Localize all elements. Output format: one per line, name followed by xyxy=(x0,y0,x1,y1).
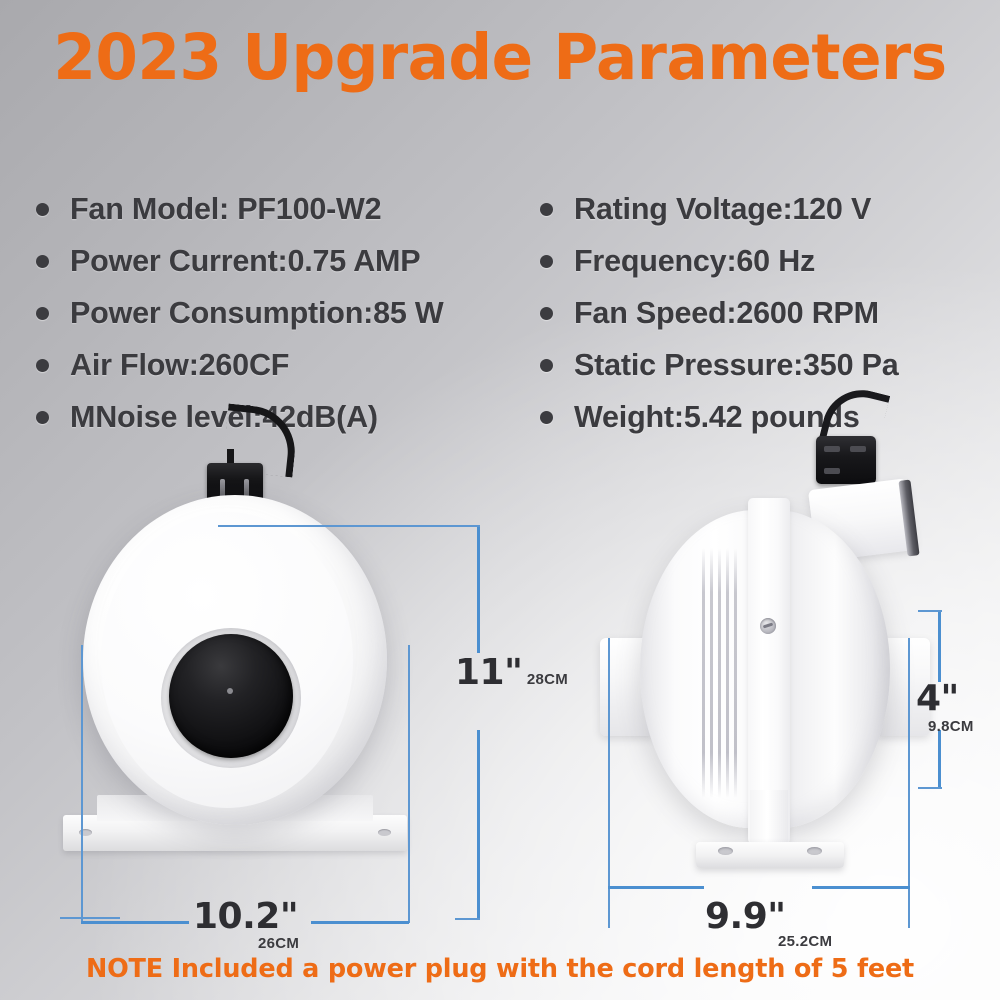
dimension-inches: 11" xyxy=(455,652,522,693)
bullet-icon xyxy=(540,411,553,424)
dimension-tick-duct-top xyxy=(918,610,942,612)
spec-item-static-pressure: Static Pressure:350 Pa xyxy=(540,339,899,391)
mounting-foot-plate xyxy=(696,842,844,868)
dimension-label-width-right-cm: 25.2CM xyxy=(778,933,832,951)
fan-front-view-illustration xyxy=(75,495,395,895)
dimension-tick-top-left xyxy=(455,525,480,527)
dimension-label-height-left: 11" 28CM xyxy=(455,652,568,693)
spec-label: Rating Voltage:120 V xyxy=(574,192,871,227)
spec-item-power-consumption: Power Consumption:85 W xyxy=(36,287,443,339)
bullet-icon xyxy=(540,203,553,216)
bullet-icon xyxy=(36,203,49,216)
dimension-line-width-right-segment xyxy=(311,921,409,924)
dimension-inches: 4" xyxy=(916,678,959,719)
connector-slot-icon xyxy=(824,468,840,474)
dimension-extension-right-edge-right-product xyxy=(908,638,910,928)
dimension-label-width-right: 9.9" xyxy=(705,896,786,937)
fan-side-view-illustration xyxy=(600,490,930,900)
spec-item-fan-model: Fan Model: PF100-W2 xyxy=(36,183,443,235)
dimension-extension-left-edge xyxy=(81,645,83,923)
dimension-extension-top-left xyxy=(218,525,480,527)
housing-rib xyxy=(710,548,713,798)
connector-slot-icon xyxy=(850,446,866,452)
product-spec-infographic: 2023 Upgrade Parameters Fan Model: PF100… xyxy=(0,0,1000,1000)
dimension-tick-bottom-left xyxy=(455,918,480,920)
fan-motor-hub xyxy=(169,634,293,758)
connector-slot-icon xyxy=(824,446,840,452)
spec-label: Frequency:60 Hz xyxy=(574,244,815,279)
bullet-icon xyxy=(36,255,49,268)
foot-screw-hole-icon xyxy=(807,847,822,855)
housing-rib xyxy=(718,548,721,798)
dimension-inches: 10.2" xyxy=(193,896,298,937)
product-dimension-diagrams: 11" 28CM 10.2" 26CM xyxy=(0,430,1000,950)
dimension-label-width-left-cm: 26CM xyxy=(258,935,299,953)
dimension-line-width-right-left-segment xyxy=(608,886,704,889)
dimension-cm: 9.8CM xyxy=(928,718,974,735)
spec-label: Static Pressure:350 Pa xyxy=(574,348,899,383)
spec-item-rating-voltage: Rating Voltage:120 V xyxy=(540,183,899,235)
dimension-cm: 25.2CM xyxy=(778,933,832,950)
dimension-tick-duct-bottom xyxy=(918,787,942,789)
dimension-line-duct-upper-right xyxy=(938,610,941,682)
dimension-line-duct-lower-right xyxy=(938,730,941,788)
mounting-foot-post xyxy=(750,790,788,850)
dimension-line-width-right-right-segment xyxy=(812,886,910,889)
spec-item-fan-speed: Fan Speed:2600 RPM xyxy=(540,287,899,339)
housing-rib xyxy=(726,548,729,798)
dimension-inches: 9.9" xyxy=(705,896,786,937)
spec-label: Power Consumption:85 W xyxy=(70,296,443,331)
dimension-line-height-lower-left xyxy=(477,730,480,920)
bracket-screw-hole-icon xyxy=(378,829,391,836)
spec-label: Power Current:0.75 AMP xyxy=(70,244,420,279)
housing-rib xyxy=(734,548,737,798)
dimension-extension-right-edge xyxy=(408,645,410,923)
spec-label: Fan Model: PF100-W2 xyxy=(70,192,381,227)
bullet-icon xyxy=(540,307,553,320)
dimension-extension-bottom-left xyxy=(60,917,120,919)
page-title: 2023 Upgrade Parameters xyxy=(15,26,985,89)
dimension-label-duct-right-cm: 9.8CM xyxy=(928,718,974,736)
spec-item-frequency: Frequency:60 Hz xyxy=(540,235,899,287)
dimension-cm: 26CM xyxy=(258,935,299,952)
foot-screw-hole-icon xyxy=(718,847,733,855)
spec-label: Air Flow:260CF xyxy=(70,348,289,383)
fan-hub-center-dot xyxy=(227,688,233,694)
spec-item-air-flow: Air Flow:260CF xyxy=(36,339,443,391)
dimension-extension-left-edge-right-product xyxy=(608,638,610,928)
footer-note: NOTE Included a power plug with the cord… xyxy=(0,954,1000,984)
spec-label: Fan Speed:2600 RPM xyxy=(574,296,879,331)
dimension-line-width-left-segment xyxy=(81,921,189,924)
housing-screw-icon xyxy=(760,618,776,634)
bullet-icon xyxy=(540,255,553,268)
bullet-icon xyxy=(540,359,553,372)
bullet-icon xyxy=(36,307,49,320)
bullet-icon xyxy=(36,359,49,372)
dimension-line-height-upper-left xyxy=(477,525,480,653)
power-connector-box-icon xyxy=(816,436,876,484)
dimension-label-width-left: 10.2" xyxy=(193,896,298,937)
bullet-icon xyxy=(36,411,49,424)
dimension-cm: 28CM xyxy=(527,671,568,688)
housing-rib xyxy=(702,548,705,798)
spec-item-power-current: Power Current:0.75 AMP xyxy=(36,235,443,287)
dimension-label-duct-right: 4" xyxy=(916,678,959,719)
